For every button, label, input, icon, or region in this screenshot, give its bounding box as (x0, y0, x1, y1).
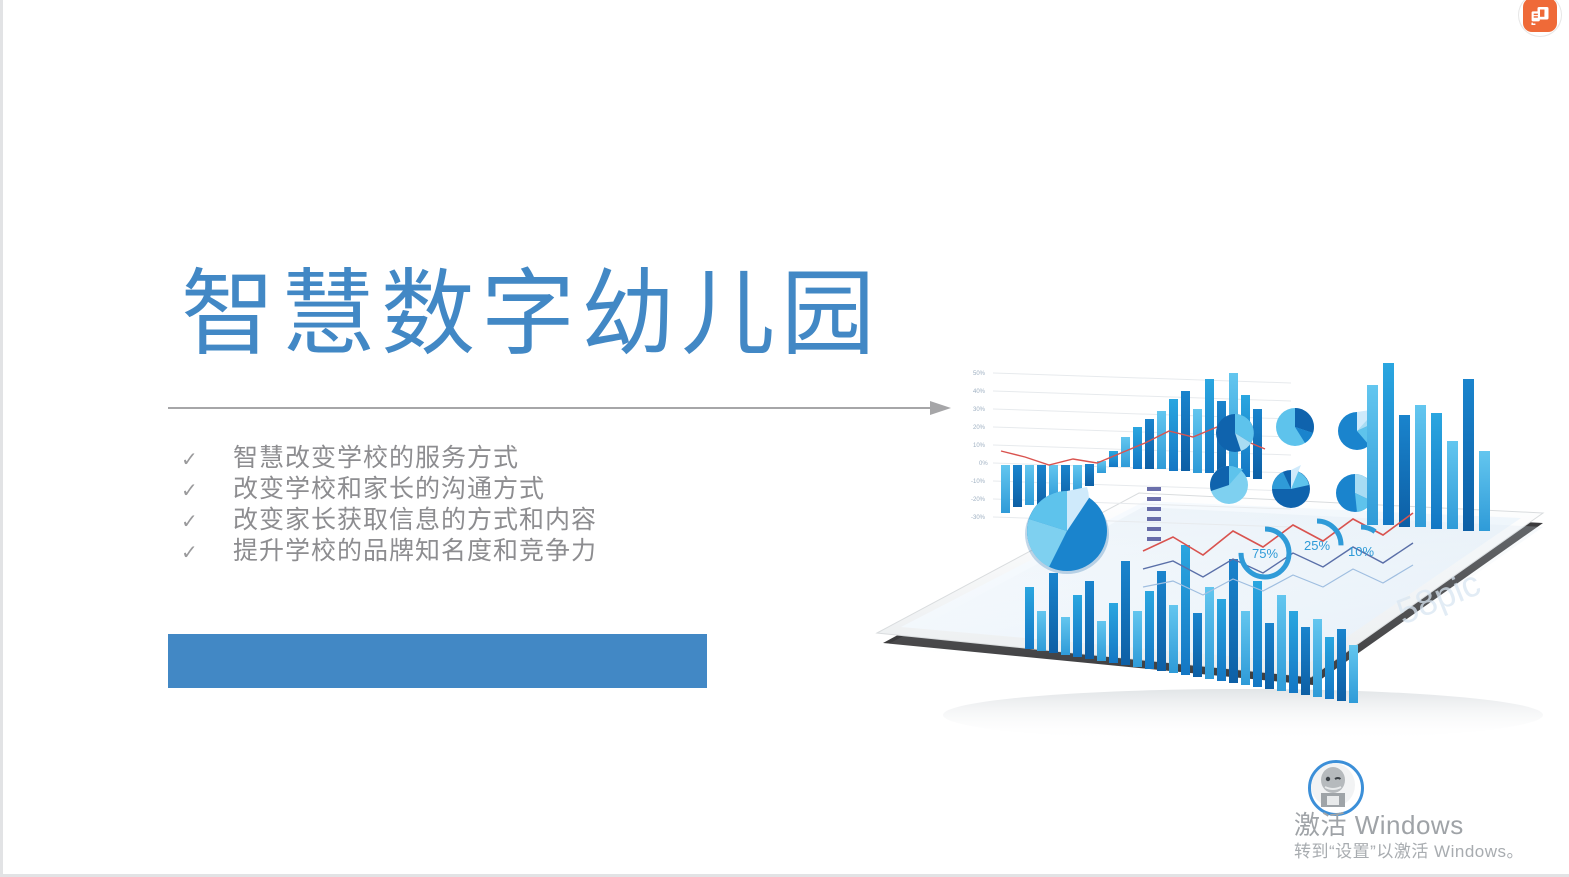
svg-text:-20%: -20% (971, 497, 986, 503)
svg-text:-30%: -30% (971, 515, 986, 521)
donut-label-10: 10% (1348, 544, 1374, 559)
check-icon: ✓ (181, 538, 233, 569)
arrow-divider (168, 398, 953, 418)
list-item: ✓ 改变家长获取信息的方式和内容 (181, 505, 741, 536)
check-icon: ✓ (181, 476, 233, 507)
svg-text:0%: 0% (979, 461, 988, 467)
watermark-title: 激活 Windows (1294, 810, 1524, 840)
windows-activation-watermark: 激活 Windows 转到“设置”以激活 Windows。 (1294, 760, 1524, 864)
list-item-label: 改变学校和家长的沟通方式 (233, 474, 545, 505)
svg-text:20%: 20% (973, 425, 986, 431)
tablet-analytics-illustration: 50% 40% 30% 20% 10% 0% -10% -20% -30% (843, 355, 1569, 755)
svg-text:-10%: -10% (971, 479, 986, 485)
list-item-label: 智慧改变学校的服务方式 (233, 443, 519, 474)
user-avatar-icon (1308, 760, 1364, 816)
check-icon: ✓ (181, 507, 233, 538)
list-item: ✓ 改变学校和家长的沟通方式 (181, 474, 741, 505)
check-icon: ✓ (181, 445, 233, 476)
watermark-subtitle: 转到“设置”以激活 Windows。 (1294, 840, 1524, 864)
donut-label-75: 75% (1252, 546, 1278, 561)
app-badge[interactable] (1519, 0, 1561, 36)
list-item: ✓ 提升学校的品牌知名度和竞争力 (181, 536, 741, 567)
bullet-list: ✓ 智慧改变学校的服务方式 ✓ 改变学校和家长的沟通方式 ✓ 改变家长获取信息的… (181, 443, 741, 567)
svg-text:10%: 10% (973, 443, 986, 449)
list-item-label: 改变家长获取信息的方式和内容 (233, 505, 597, 536)
svg-text:50%: 50% (973, 371, 986, 377)
ppt-converter-icon[interactable] (1523, 0, 1557, 32)
tall-right-bars (1367, 363, 1490, 531)
presentation-slide: 智慧数字幼儿园 ✓ 智慧改变学校的服务方式 ✓ 改变学校和家长的沟通方式 ✓ 改… (0, 0, 1569, 877)
list-item: ✓ 智慧改变学校的服务方式 (181, 443, 741, 474)
svg-text:40%: 40% (973, 389, 986, 395)
slide-title: 智慧数字幼儿园 (181, 258, 881, 370)
svg-text:30%: 30% (973, 407, 986, 413)
list-item-label: 提升学校的品牌知名度和竞争力 (233, 536, 597, 567)
subtitle-placeholder-bar[interactable] (168, 634, 707, 688)
donut-label-25: 25% (1304, 538, 1330, 553)
